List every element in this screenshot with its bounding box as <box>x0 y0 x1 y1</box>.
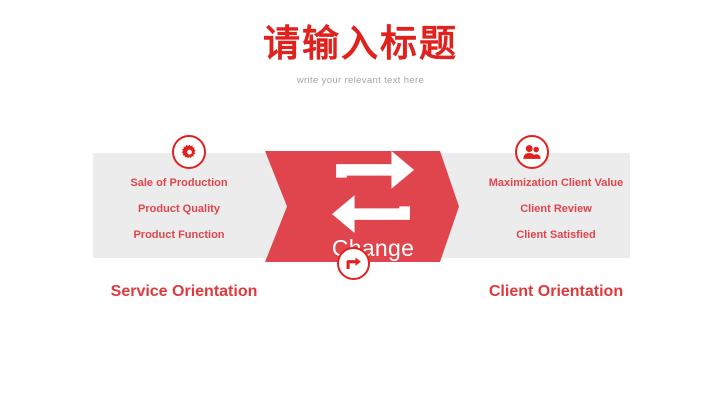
people-icon <box>523 144 541 160</box>
page-subtitle: write your relevant text here <box>0 75 721 87</box>
list-item: Sale of Production <box>89 176 269 190</box>
list-item: Client Satisfied <box>458 228 654 242</box>
change-badge[interactable] <box>337 247 370 280</box>
page-title: 请输入标题 <box>0 22 721 66</box>
list-item: Product Quality <box>89 202 269 216</box>
list-item: Product Function <box>89 228 269 242</box>
list-item: Client Review <box>458 202 654 216</box>
left-list: Sale of Production Product Quality Produ… <box>89 176 269 242</box>
chevron-shape <box>265 151 459 262</box>
left-caption: Service Orientation <box>89 281 279 303</box>
center-chevron[interactable]: Change <box>265 151 459 262</box>
people-badge[interactable] <box>515 135 549 169</box>
slide-canvas: 请输入标题 write your relevant text here Chan… <box>0 0 721 405</box>
gear-badge[interactable] <box>172 135 206 169</box>
right-list: Maximization Client Value Client Review … <box>458 176 654 242</box>
gear-icon <box>181 144 198 161</box>
title-block: 请输入标题 write your relevant text here <box>0 22 721 87</box>
arrow-turn-right-icon <box>345 257 362 271</box>
list-item: Maximization Client Value <box>458 176 654 190</box>
right-caption: Client Orientation <box>460 281 652 303</box>
